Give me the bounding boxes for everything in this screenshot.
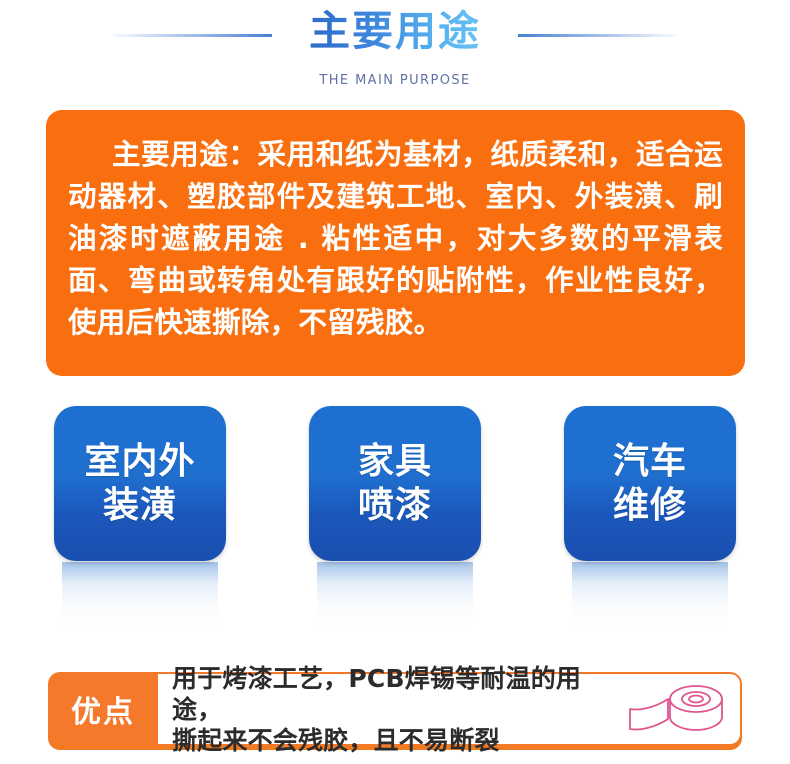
- card-wrapper: 室内外 装潢: [54, 406, 226, 636]
- tape-roll-icon: [626, 681, 730, 737]
- description-text: 主要用途：采用和纸为基材，纸质柔和，适合运动器材、塑胶部件及建筑工地、室内、外装…: [68, 134, 723, 344]
- advantage-text-line-2: 撕起来不会残胶，且不易断裂: [172, 725, 618, 756]
- card-line-1: 汽车: [613, 440, 687, 484]
- advantage-text-line-1: 用于烤漆工艺，PCB焊锡等耐温的用途，: [172, 663, 618, 725]
- application-card-indoor-outdoor-decoration[interactable]: 室内外 装潢: [54, 406, 226, 561]
- card-reflection: [572, 562, 728, 636]
- title-rule-right: [518, 34, 678, 37]
- card-reflection: [317, 562, 473, 636]
- application-card-auto-repair[interactable]: 汽车 维修: [564, 406, 736, 561]
- page-header: 主要用途 THE MAIN PURPOSE: [0, 0, 790, 100]
- card-wrapper: 家具 喷漆: [309, 406, 481, 636]
- advantage-bar: 优点 用于烤漆工艺，PCB焊锡等耐温的用途， 撕起来不会残胶，且不易断裂: [48, 672, 742, 746]
- application-card-furniture-painting[interactable]: 家具 喷漆: [309, 406, 481, 561]
- application-cards: 室内外 装潢 家具 喷漆 汽车 维修: [0, 406, 790, 636]
- card-line-2: 装潢: [103, 484, 177, 528]
- page-subtitle: THE MAIN PURPOSE: [319, 73, 470, 88]
- title-rule-left: [112, 34, 272, 37]
- card-reflection: [62, 562, 218, 636]
- card-wrapper: 汽车 维修: [564, 406, 736, 636]
- card-line-1: 室内外: [84, 440, 195, 484]
- advantage-text: 用于烤漆工艺，PCB焊锡等耐温的用途， 撕起来不会残胶，且不易断裂: [172, 663, 618, 756]
- card-line-1: 家具: [358, 440, 432, 484]
- card-line-2: 喷漆: [358, 484, 432, 528]
- title-row: 主要用途: [0, 0, 790, 62]
- card-line-2: 维修: [613, 484, 687, 528]
- description-panel: 主要用途：采用和纸为基材，纸质柔和，适合运动器材、塑胶部件及建筑工地、室内、外装…: [46, 110, 745, 376]
- advantage-body: 用于烤漆工艺，PCB焊锡等耐温的用途， 撕起来不会残胶，且不易断裂: [158, 672, 742, 746]
- page-title: 主要用途: [295, 0, 495, 62]
- advantage-label: 优点: [48, 672, 158, 746]
